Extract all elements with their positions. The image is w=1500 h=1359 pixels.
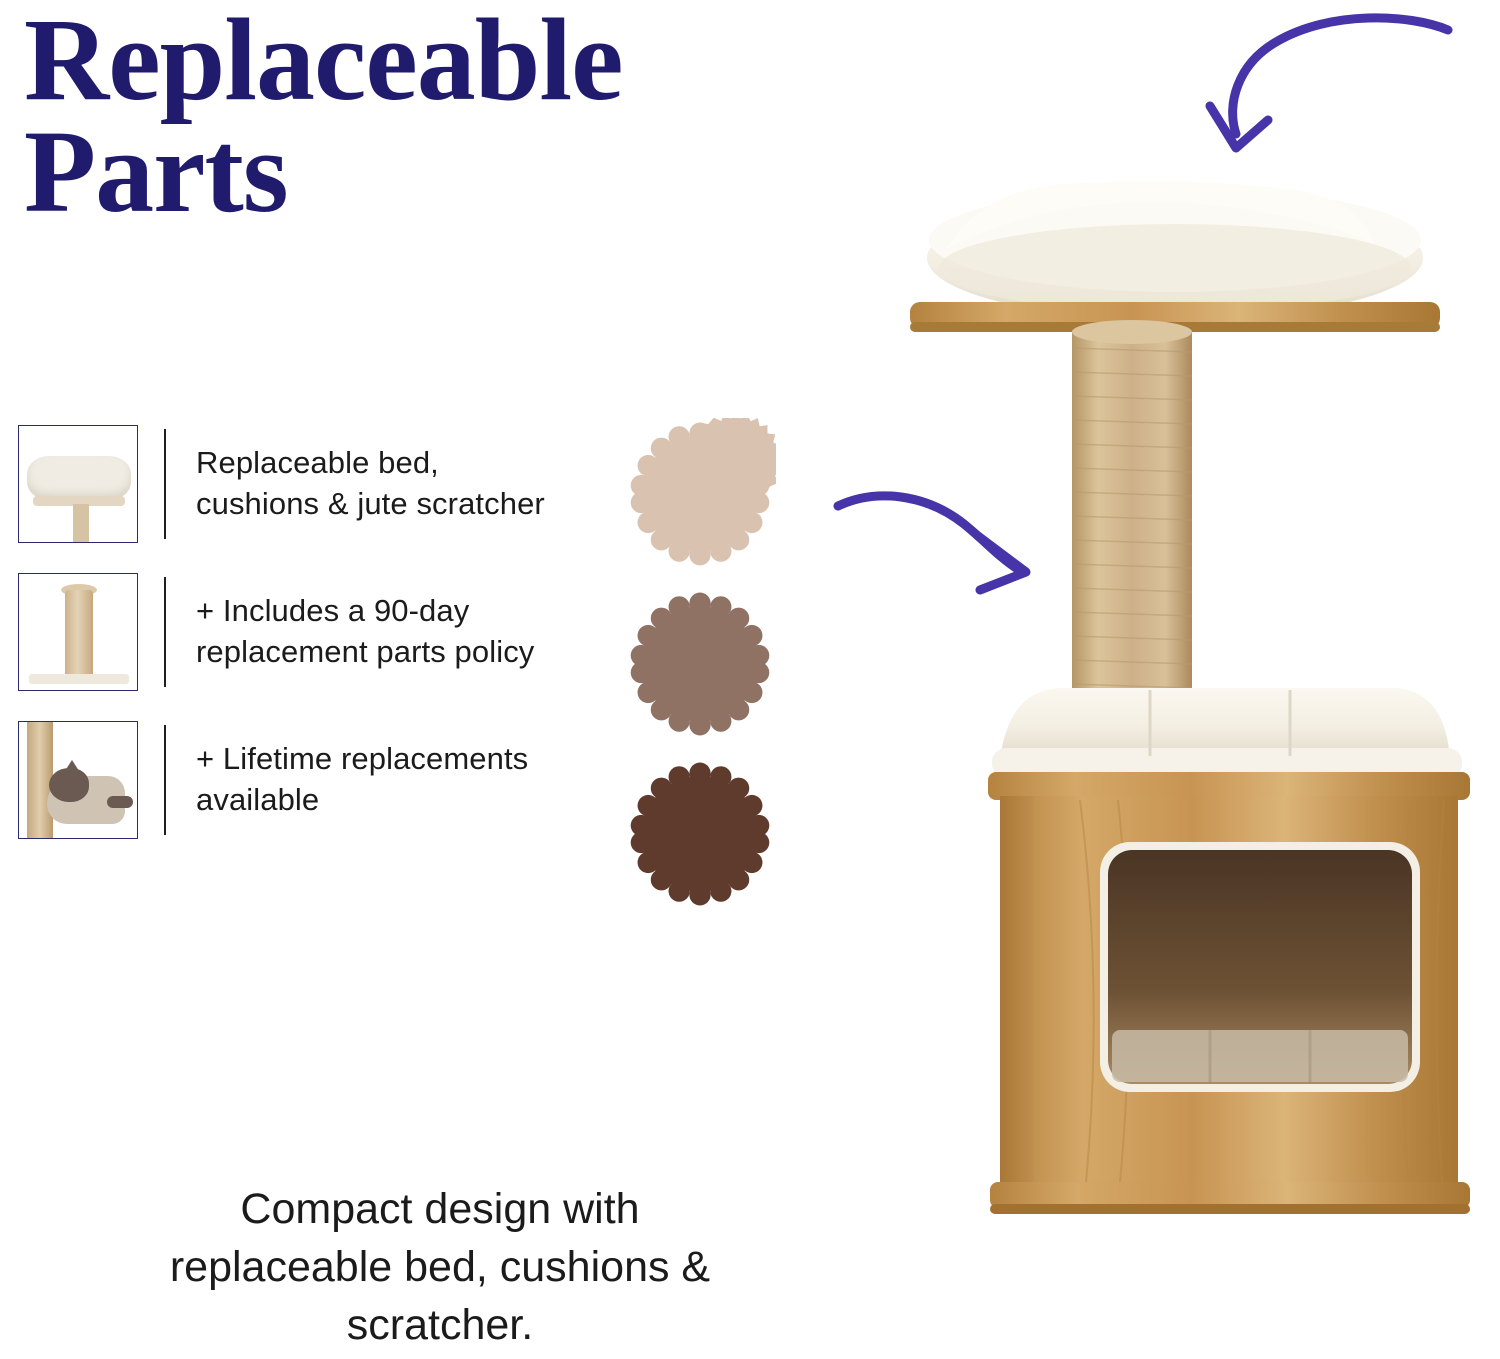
cat-head-shape [49,768,89,802]
cat-tree-product-photo [850,0,1500,1359]
bottom-caption: Compact design with replaceable bed, cus… [30,1180,850,1354]
feature-text: Replaceable bed, cushions & jute scratch… [196,443,545,525]
bed-cushion-shape [27,456,131,500]
swatch-medium-taupe [624,588,776,740]
arrow-to-post [830,490,1060,625]
replaceable-bed-thumbnail [18,425,138,543]
feature-text: + Lifetime replacements available [196,739,528,821]
bottom-caption-line1: Compact design with [30,1180,850,1238]
cushion-mat [992,688,1462,778]
feature-divider [164,725,166,835]
bed-post-shape [73,504,89,543]
feature-text-line2: cushions & jute scratcher [196,484,545,525]
cat-scratching-thumbnail [18,721,138,839]
post-base-shape [29,674,129,684]
page-title-line2: Parts [24,116,844,228]
feature-divider [164,429,166,539]
cat-tail-shape [107,796,133,808]
feature-text-line1: Replaceable bed, [196,443,545,484]
bottom-caption-line3: scratcher. [30,1296,850,1354]
feature-text-line2: available [196,780,528,821]
bottom-caption-line2: replaceable bed, cushions & [30,1238,850,1296]
feature-text-line2: replacement parts policy [196,632,534,673]
page-title: Replaceable Parts [24,4,844,228]
jute-post-thumbnail [18,573,138,691]
swatch-light-beige [624,418,776,570]
feature-text-line1: + Lifetime replacements [196,739,528,780]
feature-text-line1: + Includes a 90-day [196,591,534,632]
feature-divider [164,577,166,687]
condo-opening [1100,842,1420,1092]
color-swatch-group [624,418,776,928]
wooden-condo-box [988,772,1470,1214]
swatch-dark-brown [624,758,776,910]
feature-text: + Includes a 90-day replacement parts po… [196,591,534,673]
arrow-to-bed [1180,8,1460,203]
post-column-shape [65,590,93,682]
